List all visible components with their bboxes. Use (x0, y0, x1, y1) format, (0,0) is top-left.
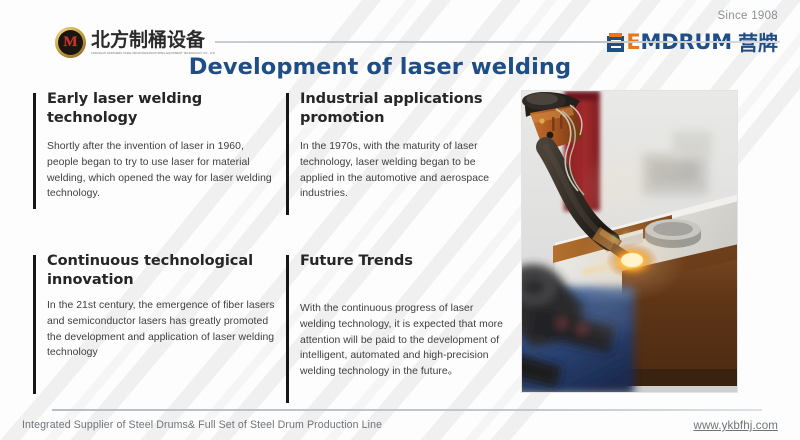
block-text: With the continuous progress of laser we… (300, 301, 504, 380)
accent-bar (286, 93, 289, 215)
block-text: In the 21st century, the emergence of fi… (47, 298, 276, 361)
content-block-industrial-applications-promotion: Industrial applications promotion In the… (286, 90, 508, 202)
footer-tagline: Integrated Supplier of Steel Drums& Full… (22, 419, 382, 431)
footer-website-link[interactable]: www.ykbfhj.com (693, 419, 778, 432)
accent-bar (286, 255, 289, 403)
content-block-continuous-technological-innovation: Continuous technological innovation In t… (33, 252, 276, 361)
block-heading: Early laser welding technology (47, 90, 273, 128)
accent-bar (33, 93, 36, 209)
block-heading: Continuous technological innovation (47, 252, 276, 290)
laser-welding-robot-photo (521, 90, 738, 393)
block-heading: Future Trends (300, 252, 504, 271)
accent-bar (33, 255, 36, 394)
slide-canvas: M 北方制桶设备 TANGSHAN NORTHERN STEEL DRUM MA… (0, 0, 800, 440)
content-block-future-trends: Future Trends With the continuous progre… (286, 252, 504, 380)
page-title: Development of laser welding (0, 54, 760, 80)
block-text: In the 1970s, with the maturity of laser… (300, 139, 508, 202)
content-block-early-laser-welding-technology: Early laser welding technology Shortly a… (33, 90, 273, 202)
footer-divider-line (52, 409, 762, 411)
block-heading: Industrial applications promotion (300, 90, 508, 128)
block-text: Shortly after the invention of laser in … (47, 139, 273, 202)
